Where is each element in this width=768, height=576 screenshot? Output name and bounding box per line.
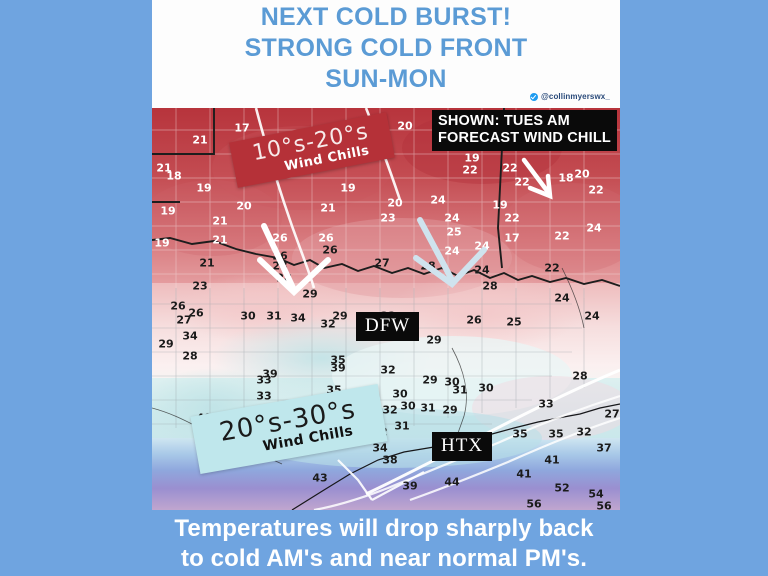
temperature-value: 28 [572, 370, 587, 383]
temperature-value: 17 [504, 232, 519, 245]
temperature-value: 21 [212, 215, 227, 228]
temperature-value: 20 [574, 168, 589, 181]
temperature-value: 18 [558, 172, 573, 185]
title-line-1: NEXT COLD BURST! [152, 2, 620, 33]
temperature-value: 21 [192, 134, 207, 147]
temperature-value: 24 [444, 245, 459, 258]
temperature-value: 31 [394, 420, 409, 433]
temperature-value: 52 [554, 482, 569, 495]
temperature-value: 29 [426, 334, 441, 347]
temperature-value: 19 [196, 182, 211, 195]
temperature-value: 18 [166, 170, 181, 183]
temperature-value: 22 [514, 176, 529, 189]
temperature-value: 32 [320, 318, 335, 331]
author-handle: @collinmyerswx_ [530, 92, 610, 101]
temperature-value: 29 [158, 338, 173, 351]
temperature-value: 41 [516, 468, 531, 481]
temperature-value: 27 [604, 408, 619, 421]
temperature-value: 21 [212, 234, 227, 247]
temperature-value: 39 [330, 362, 345, 375]
temperature-value: 26 [188, 307, 203, 320]
temperature-value: 24 [430, 194, 445, 207]
temperature-value: 35 [548, 428, 563, 441]
city-label-htx: HTX [432, 432, 492, 461]
temperature-value: 21 [320, 202, 335, 215]
callout-line-1: SHOWN: TUES AM [438, 113, 611, 130]
temperature-value: 33 [256, 390, 271, 403]
temperature-value: 20 [387, 197, 402, 210]
temperature-value: 22 [544, 262, 559, 275]
temperature-value: 39 [402, 480, 417, 493]
title-line-3: SUN-MON [152, 64, 620, 95]
temperature-value: 20 [236, 200, 251, 213]
temperature-value: 28 [482, 280, 497, 293]
temperature-value: 17 [234, 122, 249, 135]
temperature-value: 25 [446, 226, 461, 239]
temperature-value: 38 [382, 454, 397, 467]
temperature-value: 28 [182, 350, 197, 363]
temperature-value: 22 [502, 162, 517, 175]
weather-graphic-screenshot: NEXT COLD BURST! STRONG COLD FRONT SUN-M… [0, 0, 768, 576]
forecast-source-callout: SHOWN: TUES AM FORECAST WIND CHILL [432, 110, 617, 151]
temperature-value: 29 [422, 374, 437, 387]
handle-text: @collinmyerswx_ [541, 92, 610, 101]
temperature-value: 24 [586, 222, 601, 235]
city-label-dfw: DFW [356, 312, 419, 341]
temperature-value: 29 [442, 404, 457, 417]
temperature-value: 30 [400, 400, 415, 413]
temperature-value: 28 [420, 260, 435, 273]
temperature-value: 26 [322, 244, 337, 257]
caption-line-2: to cold AM's and near normal PM's. [0, 544, 768, 574]
temperature-value: 21 [199, 257, 214, 270]
verified-badge-icon [530, 93, 538, 101]
temperature-value: 23 [380, 212, 395, 225]
temperature-value: 41 [544, 454, 559, 467]
temperature-value: 22 [588, 184, 603, 197]
temperature-value: 30 [240, 310, 255, 323]
temperature-value: 34 [290, 312, 305, 325]
temperature-value: 43 [312, 472, 327, 485]
temperature-value: 19 [340, 182, 355, 195]
temperature-value: 19 [160, 205, 175, 218]
temperature-value: 32 [382, 404, 397, 417]
temperature-value: 34 [182, 330, 197, 343]
temperature-value: 24 [474, 264, 489, 277]
temperature-value: 37 [596, 442, 611, 455]
temperature-value: 20 [397, 120, 412, 133]
temperature-value: 19 [154, 237, 169, 250]
temperature-value: 22 [462, 164, 477, 177]
temperature-value: 19 [492, 199, 507, 212]
temperature-value: 27 [374, 257, 389, 270]
temperature-value: 28 [276, 272, 291, 285]
caption-line-1: Temperatures will drop sharply back [0, 514, 768, 544]
temperature-value: 33 [256, 374, 271, 387]
temperature-value: 24 [474, 240, 489, 253]
temperature-value: 22 [554, 230, 569, 243]
temperature-value: 31 [452, 384, 467, 397]
temperature-value: 44 [444, 476, 459, 489]
temperature-value: 32 [380, 364, 395, 377]
temperature-value: 24 [444, 212, 459, 225]
temperature-value: 35 [512, 428, 527, 441]
temperature-value: 22 [504, 212, 519, 225]
page-title: NEXT COLD BURST! STRONG COLD FRONT SUN-M… [152, 2, 620, 95]
temperature-value: 26 [272, 232, 287, 245]
temperature-value: 24 [584, 310, 599, 323]
temperature-value: 31 [266, 310, 281, 323]
temperature-value: 24 [554, 292, 569, 305]
temperature-value: 32 [576, 426, 591, 439]
bottom-caption: Temperatures will drop sharply back to c… [0, 508, 768, 576]
temperature-value: 19 [464, 152, 479, 165]
temperature-value: 31 [420, 402, 435, 415]
title-line-2: STRONG COLD FRONT [152, 33, 620, 64]
temperature-value: 33 [538, 398, 553, 411]
temperature-value: 30 [478, 382, 493, 395]
temperature-value: 26 [170, 300, 185, 313]
temperature-value: 25 [506, 316, 521, 329]
callout-line-2: FORECAST WIND CHILL [438, 130, 611, 147]
temperature-value: 29 [302, 288, 317, 301]
temperature-value: 23 [192, 280, 207, 293]
temperature-value: 26 [466, 314, 481, 327]
